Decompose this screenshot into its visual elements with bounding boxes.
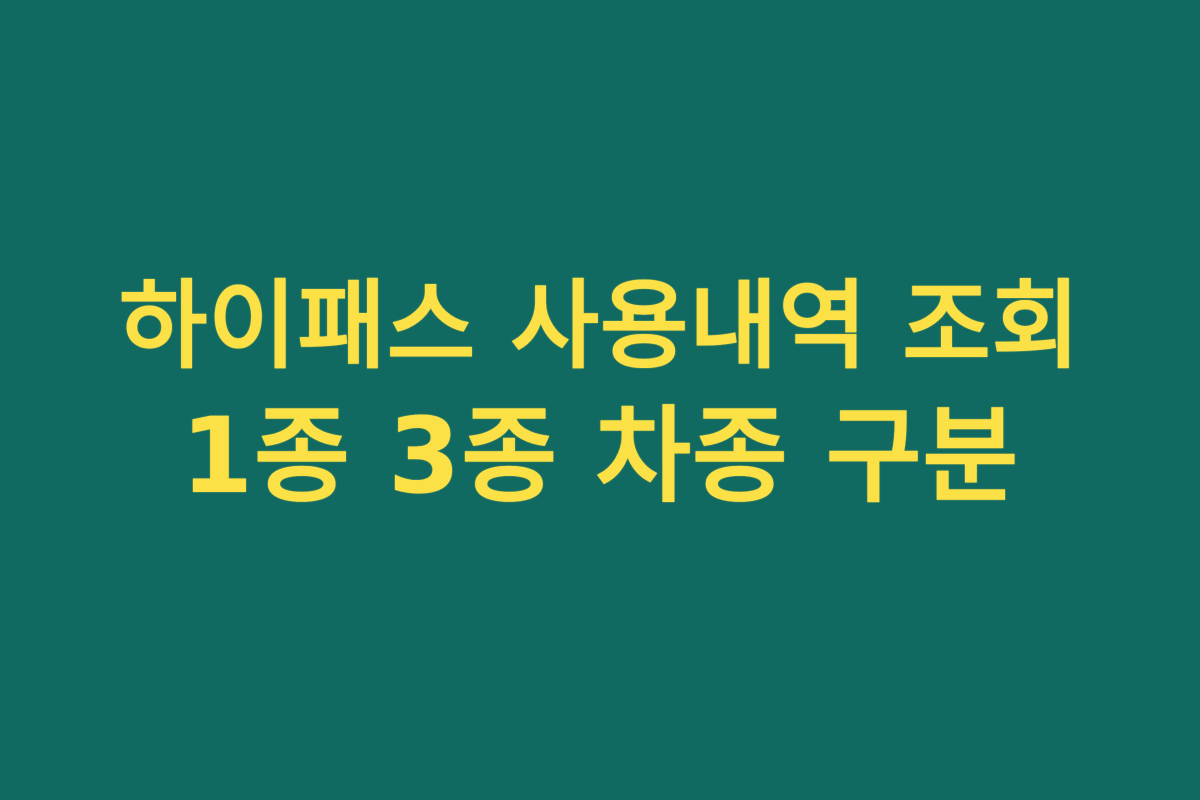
- banner-background: 하이패스 사용내역 조회 1종 3종 차종 구분: [0, 0, 1200, 800]
- title-line-primary: 하이패스 사용내역 조회: [119, 278, 1081, 374]
- title-line-secondary: 1종 3종 차종 구분: [181, 404, 1019, 508]
- title-block: 하이패스 사용내역 조회 1종 3종 차종 구분: [0, 278, 1200, 508]
